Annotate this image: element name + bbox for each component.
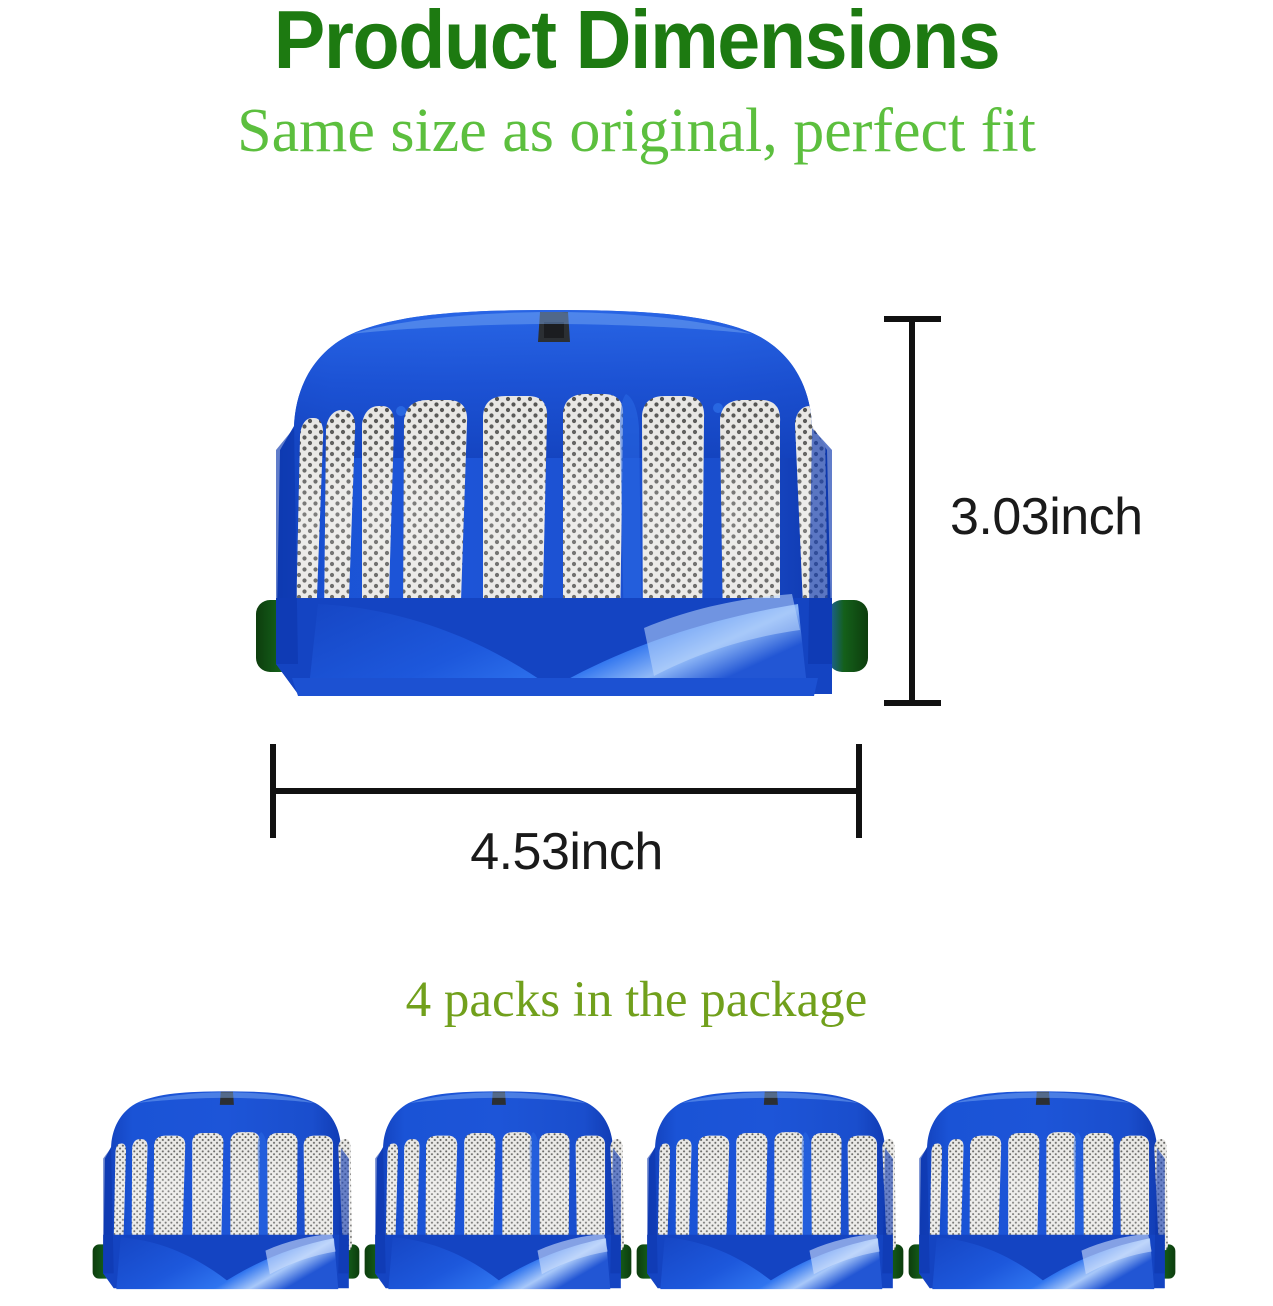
width-dim-label: 4.53inch <box>0 822 1133 882</box>
height-dim-label: 3.03inch <box>950 487 1143 547</box>
height-dim-line <box>909 316 915 706</box>
top-notch-inner <box>544 322 564 338</box>
page-subtitle: Same size as original, perfect fit <box>0 100 1273 162</box>
boss-right <box>713 403 723 413</box>
side-tab-right <box>828 600 868 672</box>
filter-illustration <box>252 308 872 708</box>
boss-left <box>396 406 406 416</box>
filter-illustration-small <box>90 1090 362 1301</box>
filter-illustration-small <box>362 1090 634 1301</box>
width-dim-line <box>270 788 862 794</box>
bottom-lip <box>292 678 818 696</box>
filter-illustration-small <box>906 1090 1178 1301</box>
wall-right <box>808 428 832 664</box>
infographic-canvas: Product Dimensions Same size as original… <box>0 0 1273 1273</box>
filter-illustration-small <box>634 1090 906 1301</box>
page-title: Product Dimensions <box>45 0 1229 81</box>
package-filter-row <box>0 1090 1273 1300</box>
package-count-note: 4 packs in the package <box>0 975 1273 1026</box>
height-dim-cap-bottom <box>884 700 941 706</box>
product-image-main <box>252 308 872 708</box>
